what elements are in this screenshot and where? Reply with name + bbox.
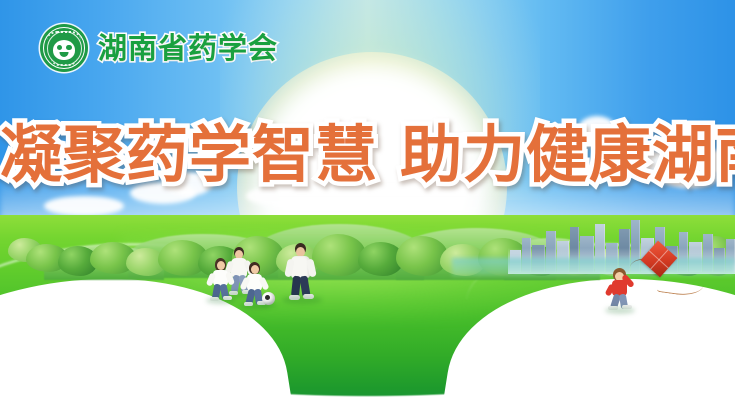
logo-text: 湖南省药学会 [98, 34, 278, 63]
shadow-kite-boy [605, 307, 635, 314]
headline-part1: 凝聚药学智慧 [0, 118, 378, 191]
shadow-ball [261, 303, 277, 307]
shadow-girl [206, 297, 236, 304]
person-father [284, 243, 318, 299]
logo-block[interactable]: 湖南省药学会 [40, 24, 278, 72]
banner-root: 湖南省药学会 凝聚药学智慧助力健康湖南 [0, 0, 735, 412]
association-emblem-icon [40, 24, 88, 72]
person-kite-boy [607, 268, 633, 312]
headline: 凝聚药学智慧助力健康湖南 [0, 124, 735, 186]
shadow-father [282, 296, 322, 304]
person-girl [208, 258, 234, 301]
headline-part2: 助力健康湖南 [400, 118, 735, 191]
